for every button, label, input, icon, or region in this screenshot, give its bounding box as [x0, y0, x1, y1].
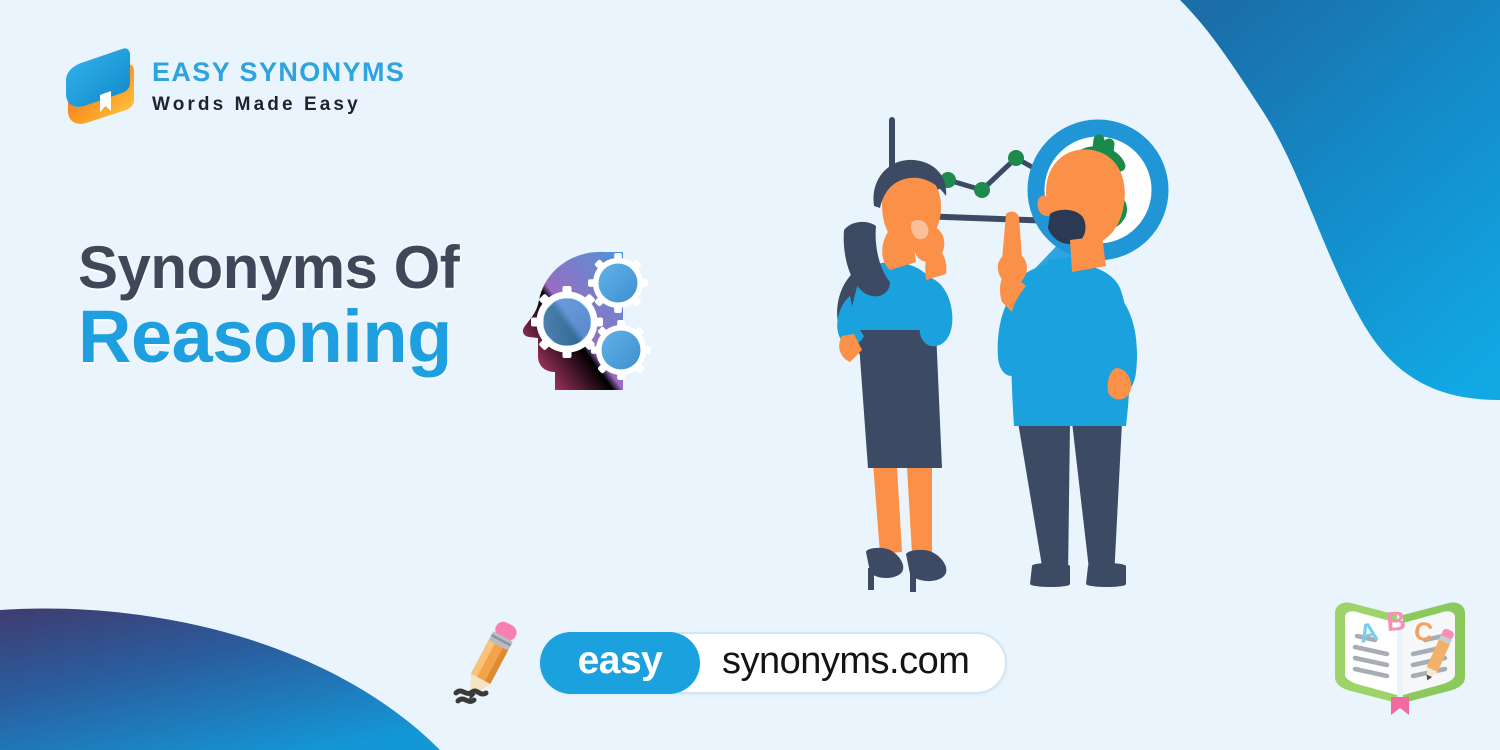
site-logo[interactable]: EASY SYNONYMS Words Made Easy — [60, 45, 405, 127]
abc-letter-b: B — [1385, 606, 1407, 637]
head-with-gears-icon — [505, 238, 657, 393]
person-woman-thinking — [837, 160, 952, 592]
url-domain-text: synonyms.com — [700, 640, 969, 687]
wave-top-right-shape — [1180, 0, 1500, 400]
person-man-pointing — [998, 149, 1137, 587]
banner-canvas: EASY SYNONYMS Words Made Easy Synonyms O… — [0, 0, 1500, 750]
logo-title: EASY SYNONYMS — [152, 59, 405, 86]
footer-url[interactable]: easy synonyms.com — [452, 617, 1007, 709]
gear-top-right — [588, 253, 648, 313]
url-pill[interactable]: easy synonyms.com — [540, 632, 1007, 694]
gear-bottom-right — [591, 320, 651, 380]
open-book-abc-icon: A B C — [1325, 585, 1475, 715]
logo-tagline: Words Made Easy — [152, 95, 405, 114]
hero-illustration — [820, 80, 1220, 640]
arc-bottom-left-shape — [0, 609, 440, 750]
book-logo-icon — [60, 45, 138, 127]
pencil-writing-icon — [452, 617, 526, 709]
url-badge-easy: easy — [540, 632, 700, 694]
